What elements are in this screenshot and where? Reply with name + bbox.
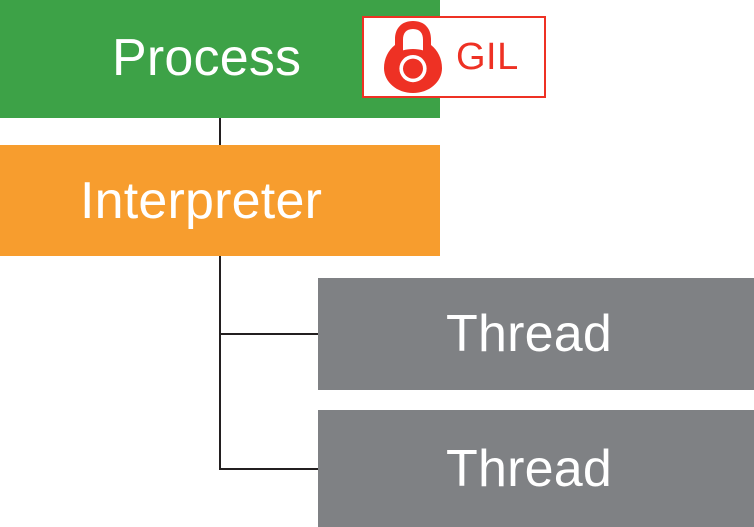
interpreter-block-label: Interpreter — [80, 175, 322, 227]
thread-block-2[interactable]: Thread — [318, 410, 754, 527]
connector-interpreter-trunk — [219, 255, 221, 470]
process-block-label: Process — [112, 32, 301, 84]
gil-badge[interactable]: GIL — [362, 16, 546, 98]
thread-block-2-label: Thread — [446, 443, 612, 495]
padlock-icon — [384, 21, 442, 93]
connector-trunk-to-thread-1 — [219, 333, 320, 335]
thread-block-1[interactable]: Thread — [318, 278, 754, 390]
thread-block-1-label: Thread — [446, 308, 612, 360]
gil-badge-label: GIL — [456, 38, 519, 76]
diagram-canvas: Process GIL Interpreter Thread Thread — [0, 0, 754, 527]
connector-process-to-interpreter — [219, 117, 221, 146]
connector-trunk-to-thread-2 — [219, 468, 320, 470]
interpreter-block[interactable]: Interpreter — [0, 145, 440, 256]
